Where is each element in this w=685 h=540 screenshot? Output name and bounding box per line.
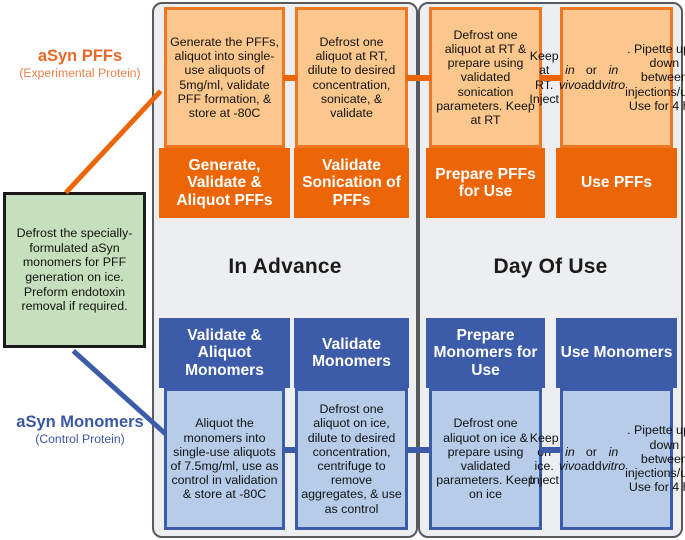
pff-body-validate-sonication: Defrost one aliquot at RT, dilute to des… <box>295 7 408 148</box>
row-label-asyn-pffs: aSyn PFFs (Experimental Protein) <box>5 47 155 81</box>
connector-monomer-step1-step2 <box>283 447 297 453</box>
monomer-body-prepare-monomers: Defrost one aliquot on ice & prepare usi… <box>429 388 542 530</box>
row-label-pff-sub: (Experimental Protein) <box>5 66 155 81</box>
pff-body-prepare-pffs: Defrost one aliquot at RT & prepare usin… <box>429 7 542 148</box>
pff-header-validate-sonication: Validate Sonication of PFFs <box>294 148 409 218</box>
monomer-body-validate-monomers: Defrost one aliquot on ice, dilute to de… <box>295 388 408 530</box>
row-label-monomers-main: aSyn Monomers <box>5 413 155 432</box>
pff-body-use-pffs: Keep at RT. Inject in vivo or add in vit… <box>560 7 673 148</box>
section-title-in-advance: In Advance <box>152 255 418 279</box>
connector-pff-step3-step4 <box>540 75 562 81</box>
monomer-header-prepare-monomers: Prepare Monomers for Use <box>426 318 545 388</box>
connector-monomer-step3-step4 <box>540 447 562 453</box>
monomer-header-validate-monomers: Validate Monomers <box>294 318 409 388</box>
workflow-diagram: In Advance Day Of Use Defrost the specia… <box>0 0 685 540</box>
monomer-body-use-monomers: Keep on ice. Inject in vivo or add in vi… <box>560 388 673 530</box>
start-box-defrost-monomers: Defrost the specially-formulated aSyn mo… <box>3 192 146 348</box>
connector-monomer-step2-step3 <box>406 447 431 453</box>
row-label-asyn-monomers: aSyn Monomers (Control Protein) <box>5 413 155 447</box>
pff-header-use-pffs: Use PFFs <box>556 148 677 218</box>
pff-header-prepare-pffs: Prepare PFFs for Use <box>426 148 545 218</box>
connector-pff-step2-step3 <box>406 75 431 81</box>
monomer-header-validate-aliquot: Validate & Aliquot Monomers <box>159 318 290 388</box>
section-title-day-of-use: Day Of Use <box>418 255 683 279</box>
connector-start-to-pffs <box>64 89 162 194</box>
row-label-monomers-sub: (Control Protein) <box>5 432 155 447</box>
monomer-body-validate-aliquot: Aliquot the monomers into single-use ali… <box>164 388 285 530</box>
row-label-pff-main: aSyn PFFs <box>5 47 155 66</box>
pff-header-generate-validate-aliquot: Generate, Validate & Aliquot PFFs <box>159 148 290 218</box>
monomer-header-use-monomers: Use Monomers <box>556 318 677 388</box>
connector-pff-step1-step2 <box>283 75 297 81</box>
pff-body-generate-validate-aliquot: Generate the PFFs, aliquot into single-u… <box>164 7 285 148</box>
